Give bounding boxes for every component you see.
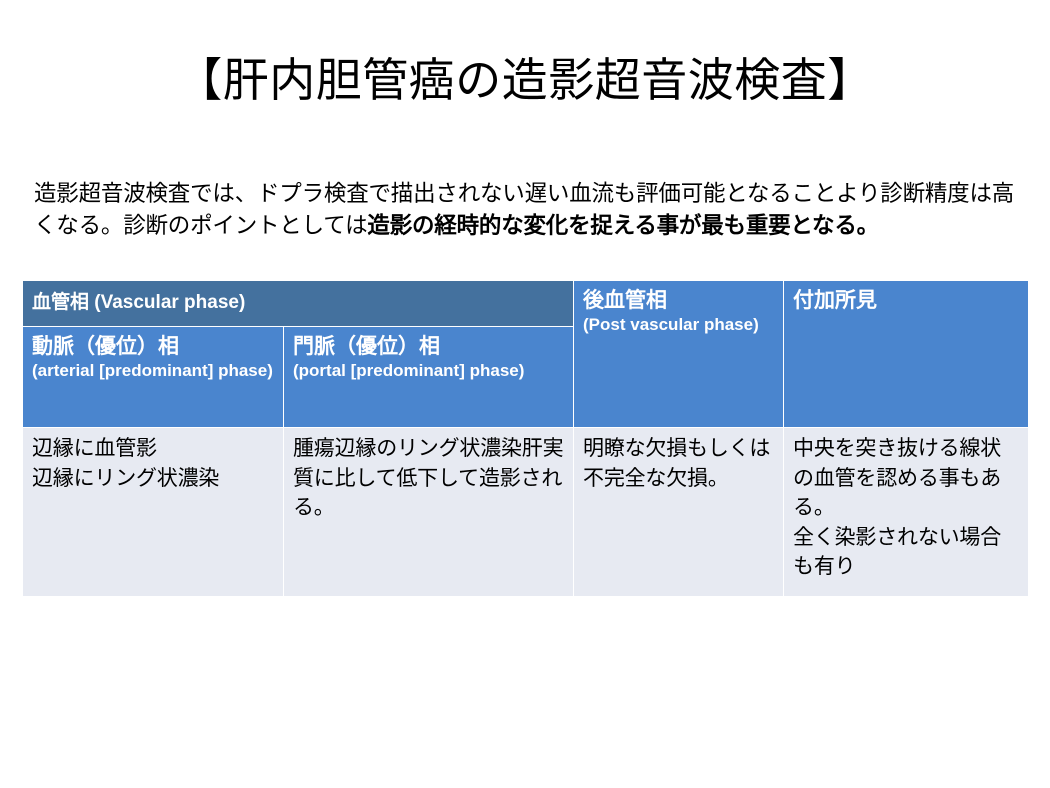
header-cell-portal-phase: 門脈（優位）相 (portal [predominant] phase)	[284, 327, 574, 428]
table-header-row-top: 血管相 (Vascular phase) 後血管相 (Post vascular…	[23, 281, 1029, 327]
header-label-arterial-en: (arterial [predominant] phase)	[32, 360, 274, 382]
page-title: 【肝内胆管癌の造影超音波検査】	[0, 52, 1050, 110]
cell-arterial-findings: 辺縁に血管影辺縁にリング状濃染	[23, 428, 284, 597]
intro-paragraph: 造影超音波検査では、ドプラ検査で描出されない遅い血流も評価可能となることより診断…	[34, 178, 1024, 242]
header-label-portal-jp: 門脈（優位）相	[293, 333, 564, 360]
table-row: 辺縁に血管影辺縁にリング状濃染 腫瘍辺縁のリング状濃染肝実質に比して低下して造影…	[23, 428, 1029, 597]
intro-paragraph-bold-run: 造影の経時的な変化を捉える事が最も重要となる。	[367, 213, 879, 238]
header-label-post-vascular-en: (Post vascular phase)	[583, 314, 774, 336]
cell-additional-findings: 中央を突き抜ける線状の血管を認める事もある。全く染影されない場合も有り	[784, 428, 1029, 597]
contrast-phase-table: 血管相 (Vascular phase) 後血管相 (Post vascular…	[22, 280, 1029, 597]
header-cell-additional-findings: 付加所見	[784, 281, 1029, 428]
header-label-post-vascular-jp: 後血管相	[583, 287, 774, 314]
cell-post-vascular-findings-text: 明瞭な欠損もしくは不完全な欠損。	[583, 434, 774, 493]
cell-arterial-findings-text: 辺縁に血管影辺縁にリング状濃染	[32, 434, 274, 493]
cell-portal-findings-text: 腫瘍辺縁のリング状濃染肝実質に比して低下して造影される。	[293, 434, 564, 523]
cell-portal-findings: 腫瘍辺縁のリング状濃染肝実質に比して低下して造影される。	[284, 428, 574, 597]
header-cell-vascular-phase: 血管相 (Vascular phase)	[23, 281, 574, 327]
header-label-arterial-jp: 動脈（優位）相	[32, 333, 274, 360]
header-label-additional-findings: 付加所見	[793, 287, 1019, 314]
header-label-vascular-phase: 血管相 (Vascular phase)	[32, 292, 245, 313]
cell-post-vascular-findings: 明瞭な欠損もしくは不完全な欠損。	[574, 428, 784, 597]
header-label-portal-en: (portal [predominant] phase)	[293, 360, 564, 382]
header-cell-post-vascular-phase: 後血管相 (Post vascular phase)	[574, 281, 784, 428]
cell-additional-findings-text: 中央を突き抜ける線状の血管を認める事もある。全く染影されない場合も有り	[793, 434, 1019, 582]
header-cell-arterial-phase: 動脈（優位）相 (arterial [predominant] phase)	[23, 327, 284, 428]
